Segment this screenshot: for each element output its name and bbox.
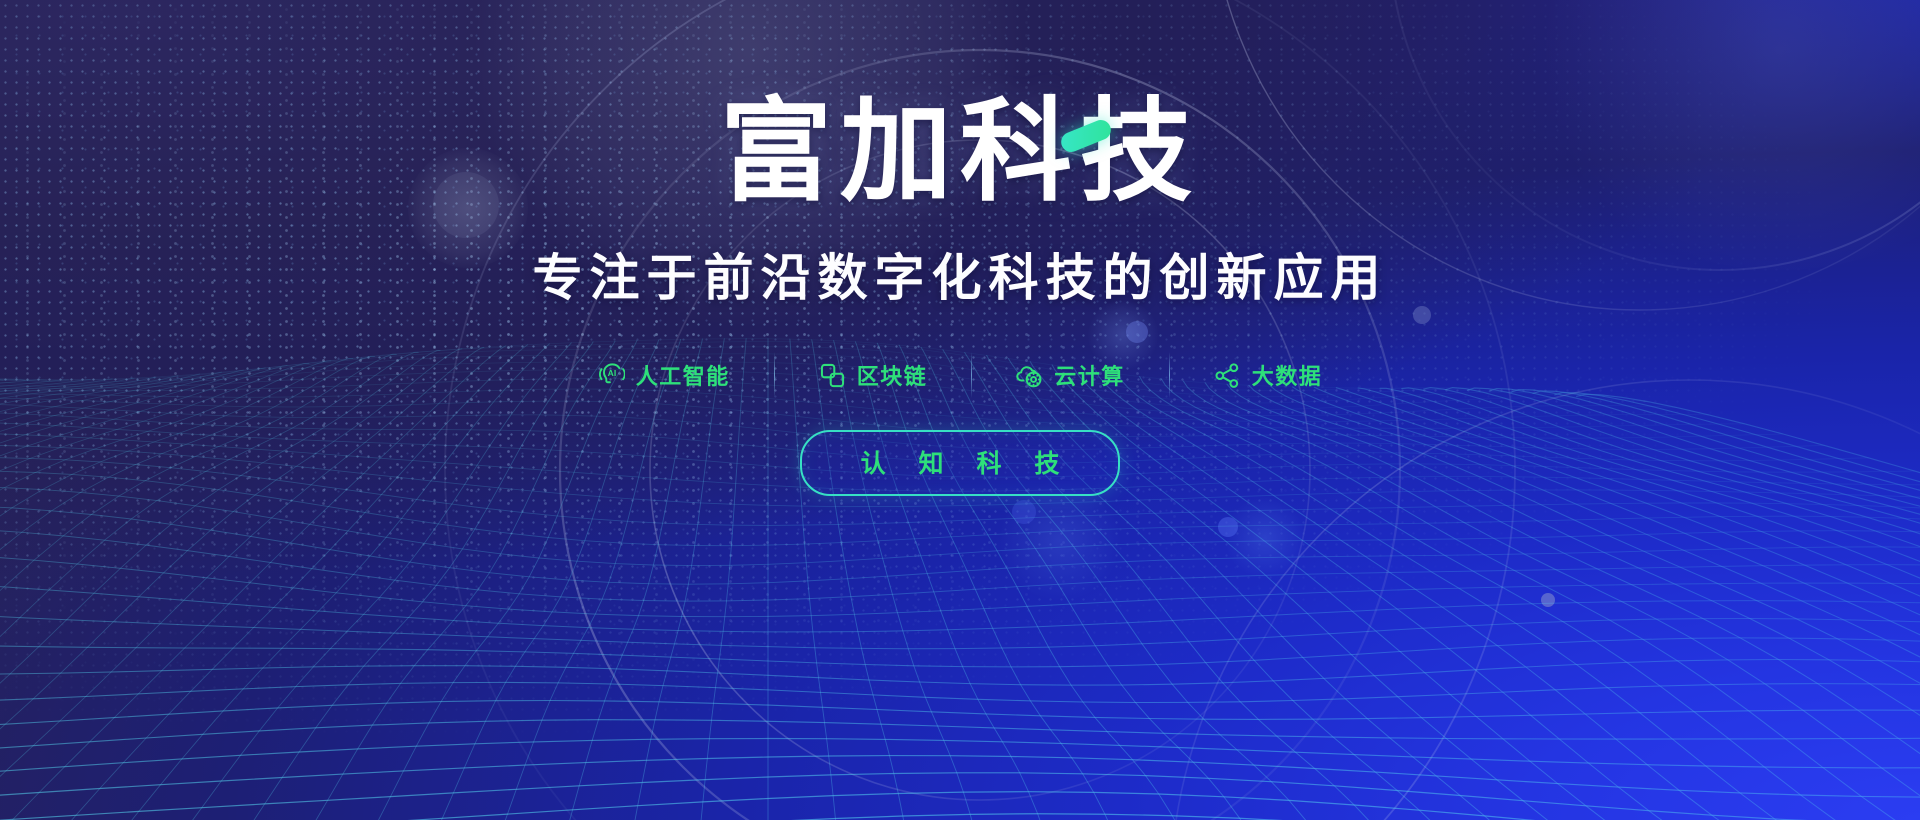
feature-tag-list: AI人工智能区块链云计算大数据 bbox=[554, 352, 1367, 398]
brand-logo: 富加科技 bbox=[720, 96, 1200, 208]
hero-banner: 富加科技 专注于前沿数字化科技的创新应用 AI人工智能区块链云计算大数据 认 知… bbox=[0, 0, 1920, 820]
feature-tag-1[interactable]: AI人工智能 bbox=[554, 359, 774, 391]
feature-tag-label: 大数据 bbox=[1252, 359, 1323, 391]
brand-logo-text: 富加科技 bbox=[720, 89, 1200, 214]
feature-tag-2[interactable]: 区块链 bbox=[775, 359, 972, 391]
ai-head-icon: AI bbox=[598, 362, 625, 389]
hero-content: 富加科技 专注于前沿数字化科技的创新应用 AI人工智能区块链云计算大数据 认 知… bbox=[0, 0, 1920, 820]
svg-text:AI: AI bbox=[607, 368, 616, 378]
cognitive-tech-button[interactable]: 认 知 科 技 bbox=[800, 430, 1121, 496]
feature-tag-label: 云计算 bbox=[1054, 359, 1125, 391]
feature-tag-4[interactable]: 大数据 bbox=[1170, 359, 1367, 391]
feature-tag-label: 区块链 bbox=[857, 359, 928, 391]
share-nodes-icon bbox=[1214, 362, 1241, 389]
blockchain-blocks-icon bbox=[819, 362, 846, 389]
feature-tag-3[interactable]: 云计算 bbox=[972, 359, 1169, 391]
hero-subtitle: 专注于前沿数字化科技的创新应用 bbox=[533, 238, 1388, 310]
cloud-gear-icon bbox=[1016, 362, 1043, 389]
feature-tag-label: 人工智能 bbox=[636, 359, 730, 391]
